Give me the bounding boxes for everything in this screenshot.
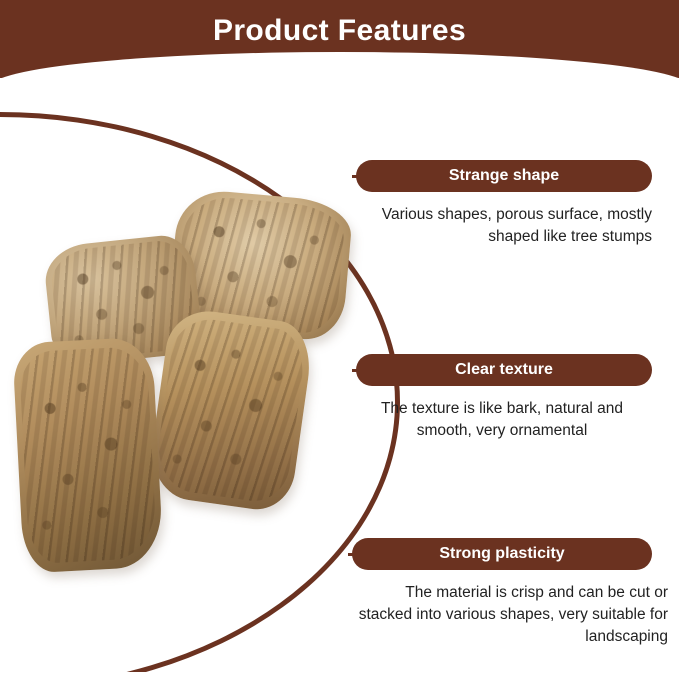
feature-title-bar-1: Strange shape bbox=[356, 160, 652, 192]
header-curve-decoration bbox=[0, 52, 679, 78]
header-banner: Product Features bbox=[0, 0, 679, 78]
feature-description-2: The texture is like bark, natural and sm… bbox=[352, 398, 652, 442]
feature-description-1: Various shapes, porous surface, mostly s… bbox=[352, 204, 652, 248]
rock-specimen-bottom bbox=[12, 336, 164, 573]
feature-title-1: Strange shape bbox=[449, 167, 559, 185]
feature-title-3: Strong plasticity bbox=[439, 545, 564, 563]
feature-block-strange-shape: Strange shape Various shapes, porous sur… bbox=[352, 160, 652, 248]
feature-title-2: Clear texture bbox=[455, 361, 553, 379]
product-features-page: Product Features Strange shape Various s… bbox=[0, 0, 679, 679]
product-photo bbox=[8, 150, 378, 570]
page-title: Product Features bbox=[0, 14, 679, 48]
feature-block-clear-texture: Clear texture The texture is like bark, … bbox=[352, 354, 652, 442]
feature-title-bar-2: Clear texture bbox=[356, 354, 652, 386]
feature-description-3: The material is crisp and can be cut or … bbox=[348, 582, 668, 648]
rock-specimen-right bbox=[145, 306, 315, 514]
feature-block-strong-plasticity: Strong plasticity The material is crisp … bbox=[348, 538, 668, 648]
feature-title-bar-3: Strong plasticity bbox=[352, 538, 652, 570]
